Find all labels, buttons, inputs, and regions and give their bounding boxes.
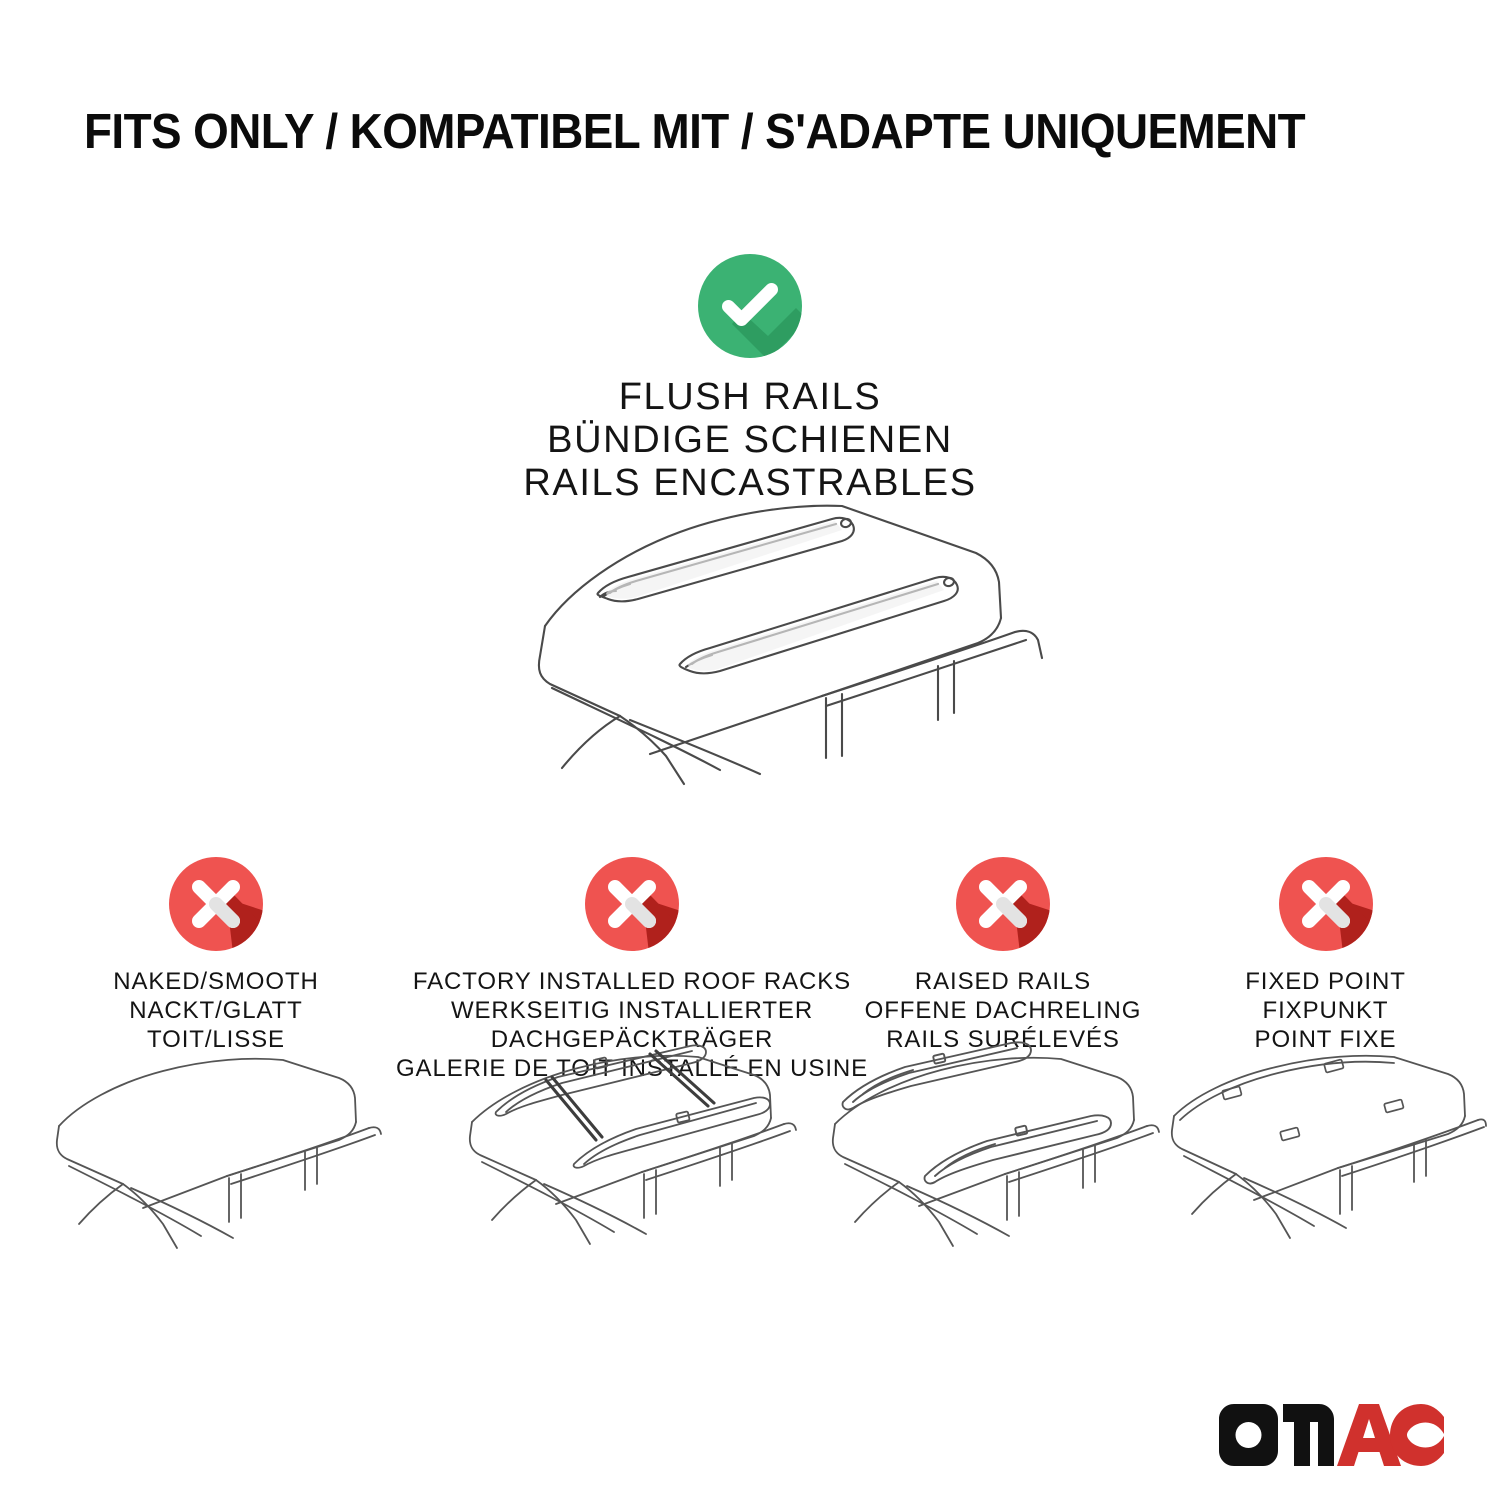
roof-type-label: NAKED/SMOOTH NACKT/GLATT TOIT/LISSE [40,967,392,1054]
compatible-heading: FLUSH RAILS BÜNDIGE SCHIENEN RAILS ENCAS… [0,376,1500,505]
compatible-section: FLUSH RAILS BÜNDIGE SCHIENEN RAILS ENCAS… [0,252,1500,505]
car-roof-with-factory-racks-illustration [454,1044,814,1272]
car-roof-with-fixed-points-illustration [1166,1054,1486,1270]
car-roof-with-raised-rails-illustration [813,1044,1173,1272]
red-x-circle-icon [1277,855,1375,953]
car-roof-with-flush-rails-illustration [470,498,1045,788]
incompatible-roof-types: NAKED/SMOOTH NACKT/GLATT TOIT/LISSE [0,848,1500,1318]
roof-type-label: RAISED RAILS OFFENE DACHRELING RAILS SUR… [838,967,1168,1054]
red-x-circle-icon [583,855,681,953]
page-title: FITS ONLY / KOMPATIBEL MIT / S'ADAPTE UN… [84,107,1342,158]
green-check-circle-icon [696,252,804,360]
roof-type-naked-smooth: NAKED/SMOOTH NACKT/GLATT TOIT/LISSE [40,848,392,1054]
red-x-circle-icon [167,855,265,953]
roof-type-raised-rails: RAISED RAILS OFFENE DACHRELING RAILS SUR… [838,848,1168,1054]
omac-logo [1219,1404,1444,1466]
roof-type-factory-installed-roof-racks: FACTORY INSTALLED ROOF RACKS WERKSEITIG … [392,848,872,1083]
roof-type-fixed-point: FIXED POINT FIXPUNKT POINT FIXE [1168,848,1483,1054]
car-roof-naked-smooth-illustration [51,1056,381,1271]
roof-type-label: FIXED POINT FIXPUNKT POINT FIXE [1168,967,1483,1054]
red-x-circle-icon [954,855,1052,953]
